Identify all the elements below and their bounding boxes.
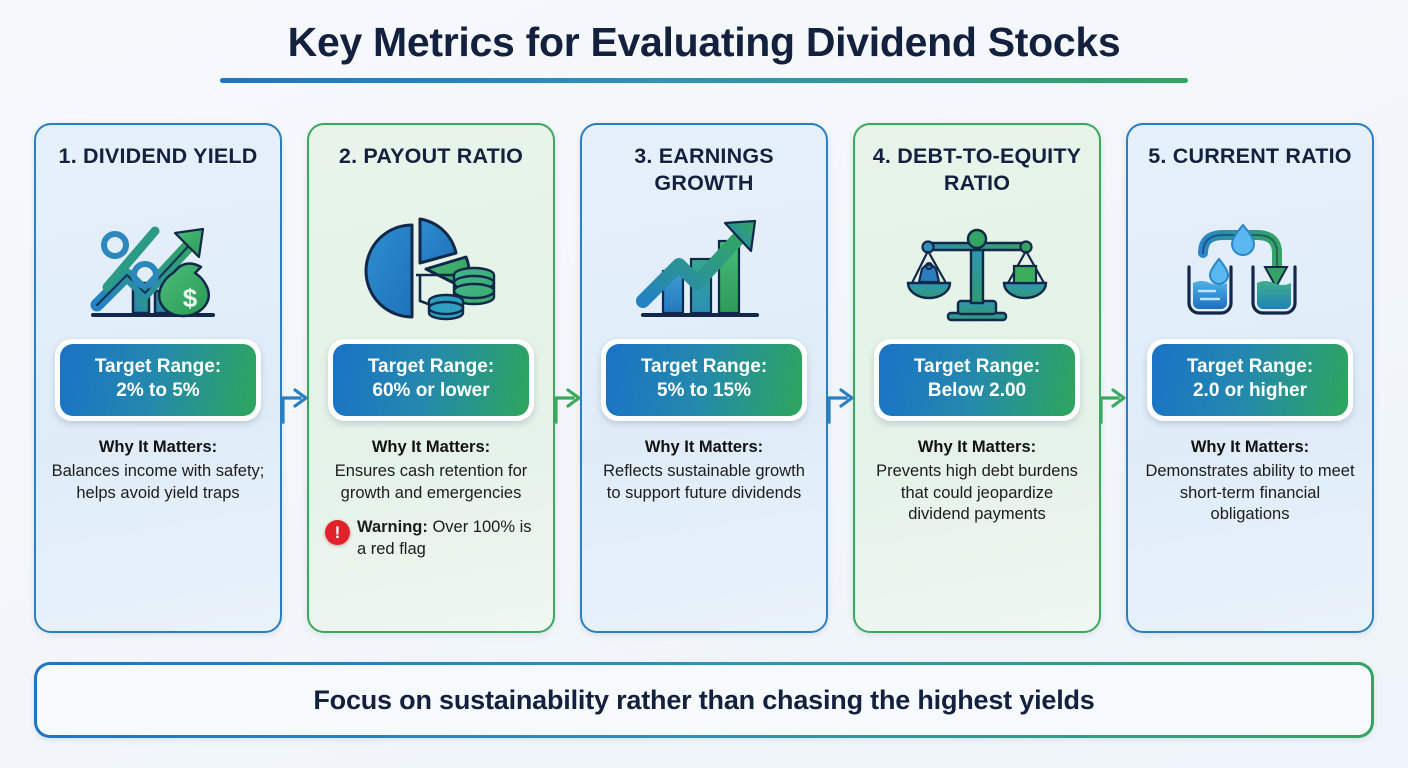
badge-label: Target Range: bbox=[1187, 356, 1313, 377]
why-it-matters-block: Why It Matters: Reflects sustainable gro… bbox=[597, 437, 812, 505]
badge-label: Target Range: bbox=[914, 356, 1040, 377]
water-beakers-liquidity-icon bbox=[1170, 205, 1330, 331]
card-title: 5. CURRENT RATIO bbox=[1148, 143, 1351, 199]
balance-scale-icon bbox=[897, 205, 1057, 331]
page-title: Key Metrics for Evaluating Dividend Stoc… bbox=[0, 18, 1408, 66]
card-title: 3. EARNINGS GROWTH bbox=[594, 143, 814, 199]
metric-card-payout-ratio[interactable]: 2. PAYOUT RATIO bbox=[307, 123, 555, 633]
target-range-badge: Target Range: 5% to 15% bbox=[601, 339, 807, 421]
arrow-1-to-2 bbox=[280, 372, 310, 430]
warning-row: ! Warning: Over 100% is a red flag bbox=[325, 517, 537, 561]
why-it-matters-text: Ensures cash retention for growth and em… bbox=[335, 462, 528, 502]
target-range-badge: Target Range: Below 2.00 bbox=[874, 339, 1080, 421]
why-it-matters-block: Why It Matters: Prevents high debt burde… bbox=[870, 437, 1085, 527]
badge-label: Target Range: bbox=[641, 356, 767, 377]
card-title: 4. DEBT-TO-EQUITY RATIO bbox=[867, 143, 1087, 199]
infographic-root: Key Metrics for Evaluating Dividend Stoc… bbox=[0, 0, 1408, 768]
badge-value: Below 2.00 bbox=[885, 379, 1069, 403]
arrow-4-to-5 bbox=[1098, 372, 1128, 430]
metric-card-debt-to-equity[interactable]: 4. DEBT-TO-EQUITY RATIO bbox=[853, 123, 1101, 633]
metric-card-current-ratio[interactable]: 5. CURRENT RATIO bbox=[1126, 123, 1374, 633]
bar-chart-rising-arrow-icon bbox=[624, 205, 784, 331]
metric-cards-row: 1. DIVIDEND YIELD bbox=[34, 123, 1374, 633]
why-it-matters-label: Why It Matters: bbox=[51, 437, 266, 459]
warning-label: Warning: bbox=[357, 518, 428, 536]
why-it-matters-label: Why It Matters: bbox=[1143, 437, 1358, 459]
card-title: 2. PAYOUT RATIO bbox=[339, 143, 523, 199]
why-it-matters-label: Why It Matters: bbox=[597, 437, 812, 459]
why-it-matters-block: Why It Matters: Balances income with saf… bbox=[51, 437, 266, 505]
badge-label: Target Range: bbox=[95, 356, 221, 377]
pie-chart-coins-icon bbox=[351, 205, 511, 331]
arrow-3-to-4 bbox=[826, 372, 856, 430]
badge-value: 2.0 or higher bbox=[1158, 379, 1342, 403]
target-range-badge: Target Range: 2% to 5% bbox=[55, 339, 261, 421]
arrow-2-to-3 bbox=[553, 372, 583, 430]
why-it-matters-block: Why It Matters: Demonstrates ability to … bbox=[1143, 437, 1358, 527]
why-it-matters-text: Demonstrates ability to meet short-term … bbox=[1145, 462, 1354, 524]
footer-banner: Focus on sustainability rather than chas… bbox=[34, 662, 1374, 738]
target-range-badge: Target Range: 60% or lower bbox=[328, 339, 534, 421]
badge-value: 5% to 15% bbox=[612, 379, 796, 403]
why-it-matters-text: Balances income with safety; helps avoid… bbox=[52, 462, 265, 502]
metric-card-earnings-growth[interactable]: 3. EARNINGS GROWTH bbox=[580, 123, 828, 633]
why-it-matters-block: Why It Matters: Ensures cash retention f… bbox=[324, 437, 539, 505]
badge-value: 60% or lower bbox=[339, 379, 523, 403]
why-it-matters-text: Reflects sustainable growth to support f… bbox=[603, 462, 805, 502]
why-it-matters-text: Prevents high debt burdens that could je… bbox=[876, 462, 1078, 524]
metric-card-dividend-yield[interactable]: 1. DIVIDEND YIELD bbox=[34, 123, 282, 633]
percent-growth-moneybag-icon: $ bbox=[78, 205, 238, 331]
header: Key Metrics for Evaluating Dividend Stoc… bbox=[0, 18, 1408, 83]
why-it-matters-label: Why It Matters: bbox=[324, 437, 539, 459]
why-it-matters-label: Why It Matters: bbox=[870, 437, 1085, 459]
badge-label: Target Range: bbox=[368, 356, 494, 377]
title-underline-rule bbox=[220, 78, 1188, 83]
svg-text:$: $ bbox=[183, 283, 198, 313]
target-range-badge: Target Range: 2.0 or higher bbox=[1147, 339, 1353, 421]
warning-exclamation-icon: ! bbox=[325, 520, 350, 545]
badge-value: 2% to 5% bbox=[66, 379, 250, 403]
card-title: 1. DIVIDEND YIELD bbox=[59, 143, 258, 199]
footer-text: Focus on sustainability rather than chas… bbox=[313, 685, 1094, 716]
